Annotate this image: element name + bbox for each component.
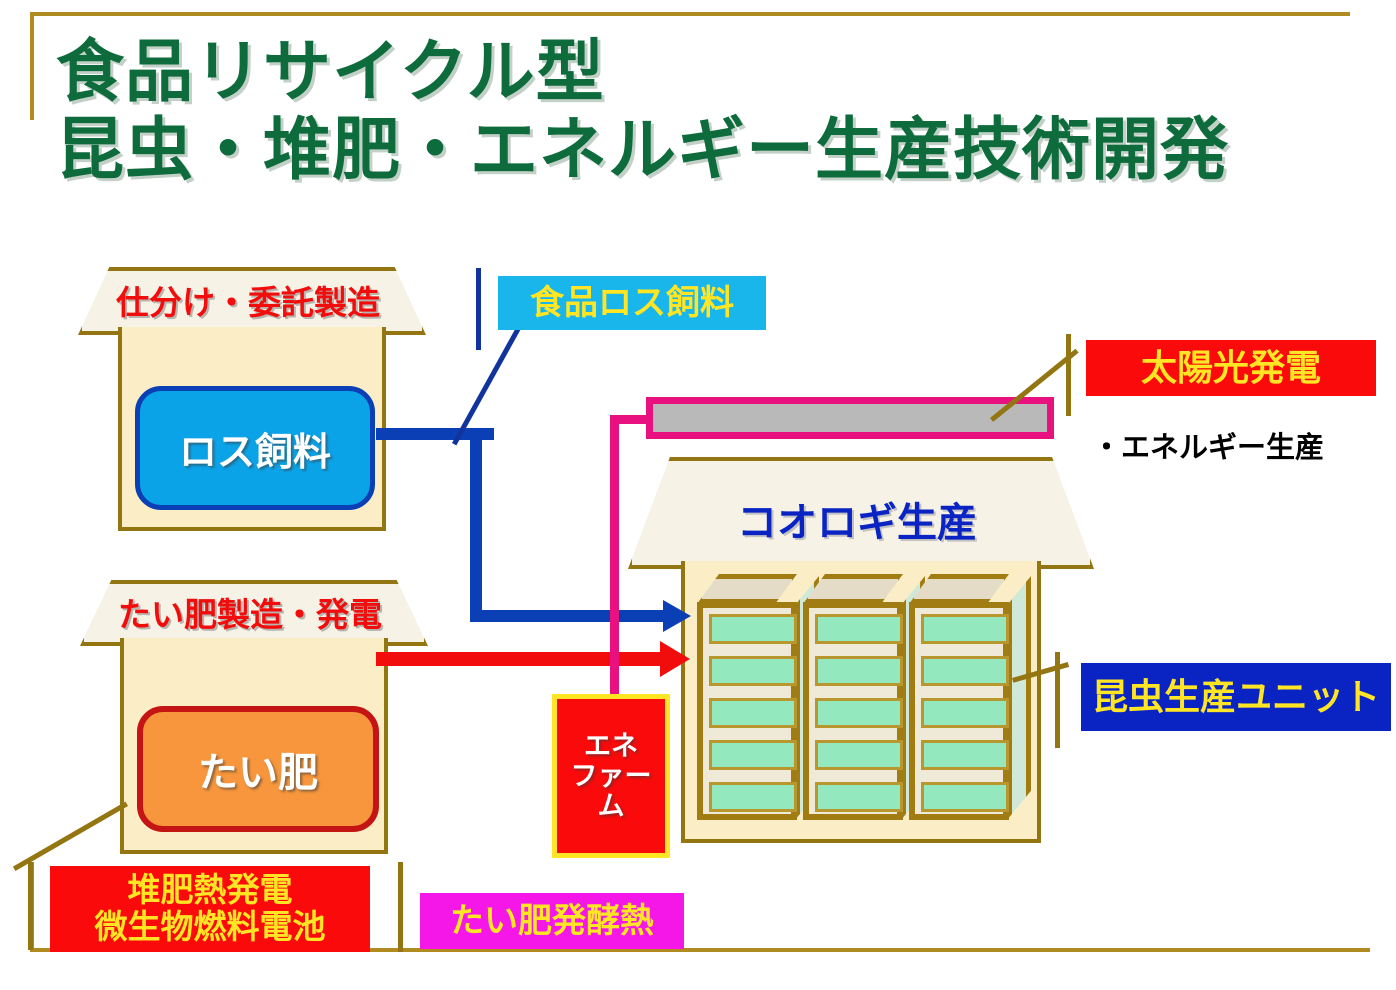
insect-tray [815,614,903,644]
insect-tray [709,614,797,644]
insect-tray [921,698,1009,728]
insect-tray [921,614,1009,644]
insect-unit-chip: 昆虫生産ユニット [1081,663,1391,731]
insect-unit-leader-bracket [1055,652,1060,748]
insect-tray [709,698,797,728]
energy-production-note: ・エネルギー生産 [1092,428,1392,468]
frame-left-rule [30,12,34,120]
solar-leader-bracket [1066,334,1071,416]
insect-tray [815,740,903,770]
ene-farm-chip: エネ ファー ム [552,694,670,858]
compost-power-leader-diagonal [13,802,128,871]
compost-pill[interactable]: たい肥 [137,706,379,832]
sorting-building-roof-label: 仕分け・委託製造 [78,276,418,324]
rack-top-face [697,574,797,604]
insect-rack-3 [909,570,1039,824]
magenta-line-segment-v [610,415,619,715]
insect-tray [815,782,903,812]
compost-heat-power-chip: 堆肥熱発電 微生物燃料電池 [50,866,370,952]
rack-front-face [697,602,797,820]
compost-ferment-leader-bracket [398,862,403,952]
insect-tray [921,656,1009,686]
food-loss-feed-chip: 食品ロス飼料 [498,276,766,330]
red-flow-segment-h [376,652,664,666]
rack-side-face [1007,576,1031,820]
insect-tray [709,740,797,770]
blue-flow-arrowhead [663,600,691,632]
cricket-building-roof-label: コオロギ生産 [628,490,1086,548]
loss-feed-pill[interactable]: ロス飼料 [135,386,375,510]
blue-flow-segment-v [470,428,482,622]
compost-building-roof-label: たい肥製造・発電 [80,588,420,636]
rack-front-face [803,602,903,820]
diagram-canvas: 食品リサイクル型 昆虫・堆肥・エネルギー生産技術開発 仕分け・委託製造 ロス飼料… [0,0,1396,990]
solar-power-chip: 太陽光発電 [1086,340,1376,396]
page-title: 食品リサイクル型 昆虫・堆肥・エネルギー生産技術開発 [56,34,1376,189]
rack-top-face [803,574,903,604]
insect-tray [709,656,797,686]
blue-flow-segment-h2 [470,610,665,622]
insect-tray [815,656,903,686]
insect-tray [709,782,797,812]
compost-ferment-heat-chip: たい肥発酵熱 [420,893,684,949]
food-loss-leader-bracket [476,268,481,350]
rack-front-face [909,602,1009,820]
compost-power-leader-bracket [28,862,33,950]
frame-top-rule [30,12,1350,16]
red-flow-arrowhead [660,641,690,677]
insect-tray [815,698,903,728]
insect-tray [921,782,1009,812]
rack-top-face [909,574,1009,604]
insect-tray [921,740,1009,770]
